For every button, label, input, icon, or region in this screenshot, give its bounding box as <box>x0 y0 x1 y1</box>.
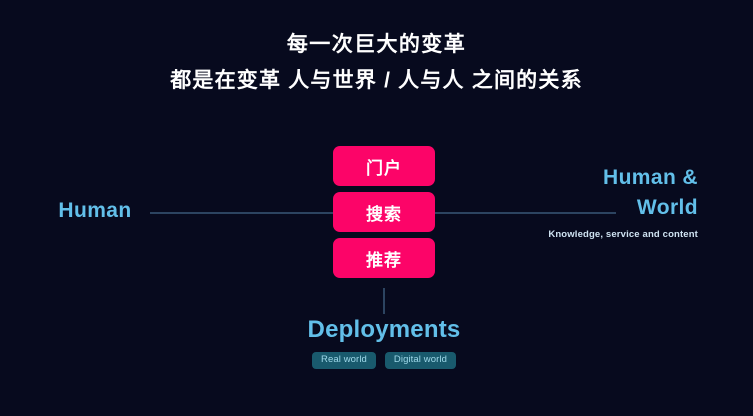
badge-row: Real world Digital world <box>234 352 534 369</box>
box-search[interactable]: 搜索 <box>333 192 435 232</box>
slide-canvas: 每一次巨大的变革 都是在变革 人与世界 / 人与人 之间的关系 Human 门户… <box>0 0 753 416</box>
title-line-2: 都是在变革 人与世界 / 人与人 之间的关系 <box>0 66 753 96</box>
right-label-line-1: Human & <box>455 163 698 193</box>
title-line-1: 每一次巨大的变革 <box>0 30 753 60</box>
bottom-title-deployments: Deployments <box>234 316 534 344</box>
slide-title: 每一次巨大的变革 都是在变革 人与世界 / 人与人 之间的关系 <box>0 30 753 96</box>
bottom-label-group: Deployments Real world Digital world <box>234 316 534 369</box>
badge-digital-world[interactable]: Digital world <box>385 352 456 369</box>
center-box-stack: 门户 搜索 推荐 <box>333 146 435 278</box>
box-recommend-label: 推荐 <box>366 246 402 271</box>
right-subtitle: Knowledge, service and content <box>455 229 698 240</box>
box-recommend[interactable]: 推荐 <box>333 238 435 278</box>
box-portal[interactable]: 门户 <box>333 146 435 186</box>
right-label-group: Human & World Knowledge, service and con… <box>455 163 698 240</box>
connector-line-right <box>434 212 616 214</box>
connector-line-left <box>150 212 335 214</box>
box-search-label: 搜索 <box>366 200 402 225</box>
connector-line-down <box>383 288 385 314</box>
box-portal-label: 门户 <box>366 154 402 179</box>
left-label-human: Human <box>40 199 150 223</box>
badge-real-world[interactable]: Real world <box>312 352 376 369</box>
right-label-line-2: World <box>455 193 698 223</box>
